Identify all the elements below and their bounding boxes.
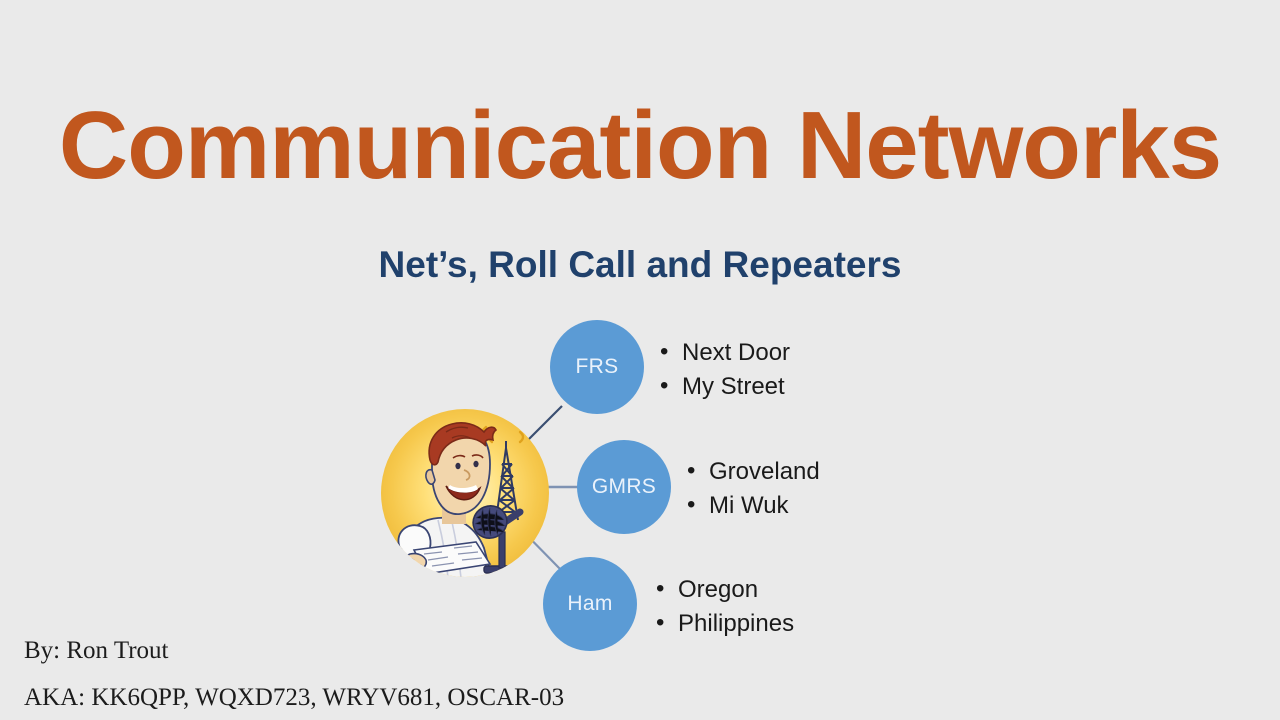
slide-canvas: Communication Networks Net’s, Roll Call …	[0, 0, 1280, 720]
author-byline: By: Ron Trout	[24, 637, 169, 665]
node-ham[interactable]: Ham	[543, 557, 637, 651]
node-ham-label: Ham	[567, 592, 612, 616]
list-item: Groveland	[683, 455, 820, 489]
author-callsigns: AKA: KK6QPP, WQXD723, WRYV681, OSCAR-03	[24, 684, 564, 712]
eye-right	[473, 461, 478, 467]
radio-operator-artwork	[380, 408, 550, 578]
bullet-list-frs: Next Door My Street	[656, 336, 790, 405]
radio-operator-illustration	[380, 408, 550, 578]
list-item: Philippines	[652, 607, 794, 641]
eye-left	[455, 463, 460, 469]
node-gmrs[interactable]: GMRS	[577, 440, 671, 534]
list-item: Mi Wuk	[683, 489, 820, 523]
node-frs-label: FRS	[576, 355, 619, 379]
page-subtitle: Net’s, Roll Call and Repeaters	[0, 244, 1280, 286]
bullet-list-ham: Oregon Philippines	[652, 573, 794, 642]
node-frs[interactable]: FRS	[550, 320, 644, 414]
list-item: Oregon	[652, 573, 794, 607]
list-item: Next Door	[656, 336, 790, 370]
bullet-list-gmrs: Groveland Mi Wuk	[683, 455, 820, 524]
page-title: Communication Networks	[0, 96, 1280, 197]
network-diagram: FRS GMRS Ham Next Door My Street Grovela…	[370, 310, 930, 680]
list-item: My Street	[656, 370, 790, 404]
node-gmrs-label: GMRS	[592, 475, 656, 499]
